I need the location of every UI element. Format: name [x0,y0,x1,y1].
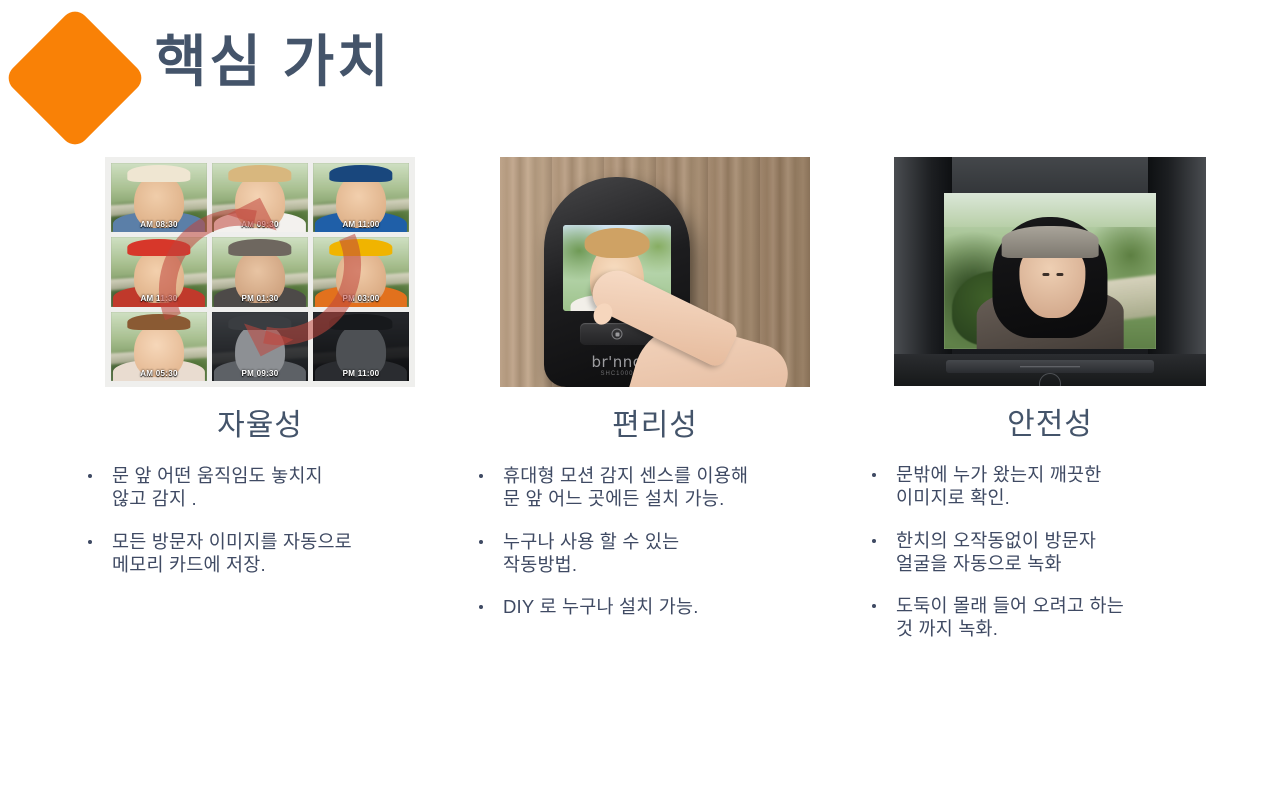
orange-diamond-decoration [3,6,147,150]
photo-subject-hat [127,314,190,331]
device-closeup-body [894,157,1206,386]
photo-cell: AM 11:00 [313,163,409,232]
list-item: 한치의 오작동없이 방문자 얼굴을 자동으로 녹화 [848,529,1250,576]
visitor-hair [585,228,650,257]
photo-timestamp: AM 11:30 [111,294,207,303]
photo-cell: AM 05:30 [111,312,207,381]
bullet-list: 휴대형 모션 감지 센스를 이용해 문 앞 어느 곳에든 설치 가능. 누구나 … [455,464,855,618]
suspicious-visitor [984,212,1115,349]
list-item: 문 앞 어떤 움직임도 놓치지 않고 감지 . [64,464,460,511]
value-column-safety: 안전성 문밖에 누가 왔는지 깨끗한 이미지로 확인. 한치의 오작동없이 방문… [850,150,1250,660]
photo-cell: PM 11:00 [313,312,409,381]
bullet-list: 문 앞 어떤 움직임도 놓치지 않고 감지 . 모든 방문자 이미지를 자동으로… [64,464,460,576]
list-item: 모든 방문자 이미지를 자동으로 메모리 카드에 저장. [64,530,460,577]
photo-timestamp: PM 03:00 [313,294,409,303]
photo-timestamp: PM 09:30 [212,369,308,378]
photo-subject-hat [329,314,392,331]
photo-cell: AM 08:30 [111,163,207,232]
value-column-convenience: br'nno SHC1000 편리성 휴대형 모션 감지 센스를 이용해 문 앞… [455,150,855,637]
list-item: 휴대형 모션 감지 센스를 이용해 문 앞 어느 곳에든 설치 가능. [455,464,855,511]
photo-subject-hat [228,165,291,182]
photo-subject-hat [228,239,291,256]
device-knob-icon [1039,373,1061,386]
figure-device-screen-closeup [894,157,1206,386]
page-title: 핵심 가치 [155,30,392,94]
photo-timestamp: AM 08:30 [111,220,207,229]
figure-visitor-photo-grid: AM 08:30 AM 09:30 AM 11:00 [105,157,415,387]
list-item: 문밖에 누가 왔는지 깨끗한 이미지로 확인. [848,463,1250,510]
column-heading: 자율성 [60,409,460,442]
bullet-list: 문밖에 누가 왔는지 깨끗한 이미지로 확인. 한치의 오작동없이 방문자 얼굴… [848,463,1250,641]
visitor-eye-right [1057,273,1064,276]
list-item: DIY 로 누구나 설치 가능. [455,595,855,618]
photo-timestamp: PM 11:00 [313,369,409,378]
photo-timestamp: PM 01:30 [212,294,308,303]
column-heading: 안전성 [850,408,1250,441]
device-right-bezel [1148,157,1206,386]
photo-timestamp: AM 11:00 [313,220,409,229]
photo-cell: PM 09:30 [212,312,308,381]
photo-timestamp: AM 09:30 [212,220,308,229]
photo-cell: PM 03:00 [313,237,409,306]
list-item: 도둑이 몰래 들어 오려고 하는 것 까지 녹화. [848,594,1250,641]
visitor-eye-left [1042,273,1049,276]
slide-header: 핵심 가치 [0,0,1284,150]
photo-subject-hat [127,165,190,182]
list-item: 누구나 사용 할 수 있는 작동방법. [455,530,855,577]
column-heading: 편리성 [455,409,855,442]
value-columns: AM 08:30 AM 09:30 AM 11:00 [0,150,1284,800]
photo-cell: AM 11:30 [111,237,207,306]
photo-subject-hat [228,314,291,331]
photo-subject-hat [329,165,392,182]
pointing-finger [588,287,778,387]
photo-timestamp: AM 05:30 [111,369,207,378]
visitor-cap [1001,226,1098,258]
value-column-autonomy: AM 08:30 AM 09:30 AM 11:00 [60,150,460,595]
device-screen [944,193,1156,349]
device-bottom-panel [894,354,1206,386]
device-button-strip[interactable] [946,360,1154,373]
photo-cell: PM 01:30 [212,237,308,306]
photo-cell: AM 09:30 [212,163,308,232]
photo-grid: AM 08:30 AM 09:30 AM 11:00 [111,163,409,381]
photo-subject-hat [329,239,392,256]
figure-device-on-door: br'nno SHC1000 [500,157,810,387]
photo-subject-hat [127,239,190,256]
